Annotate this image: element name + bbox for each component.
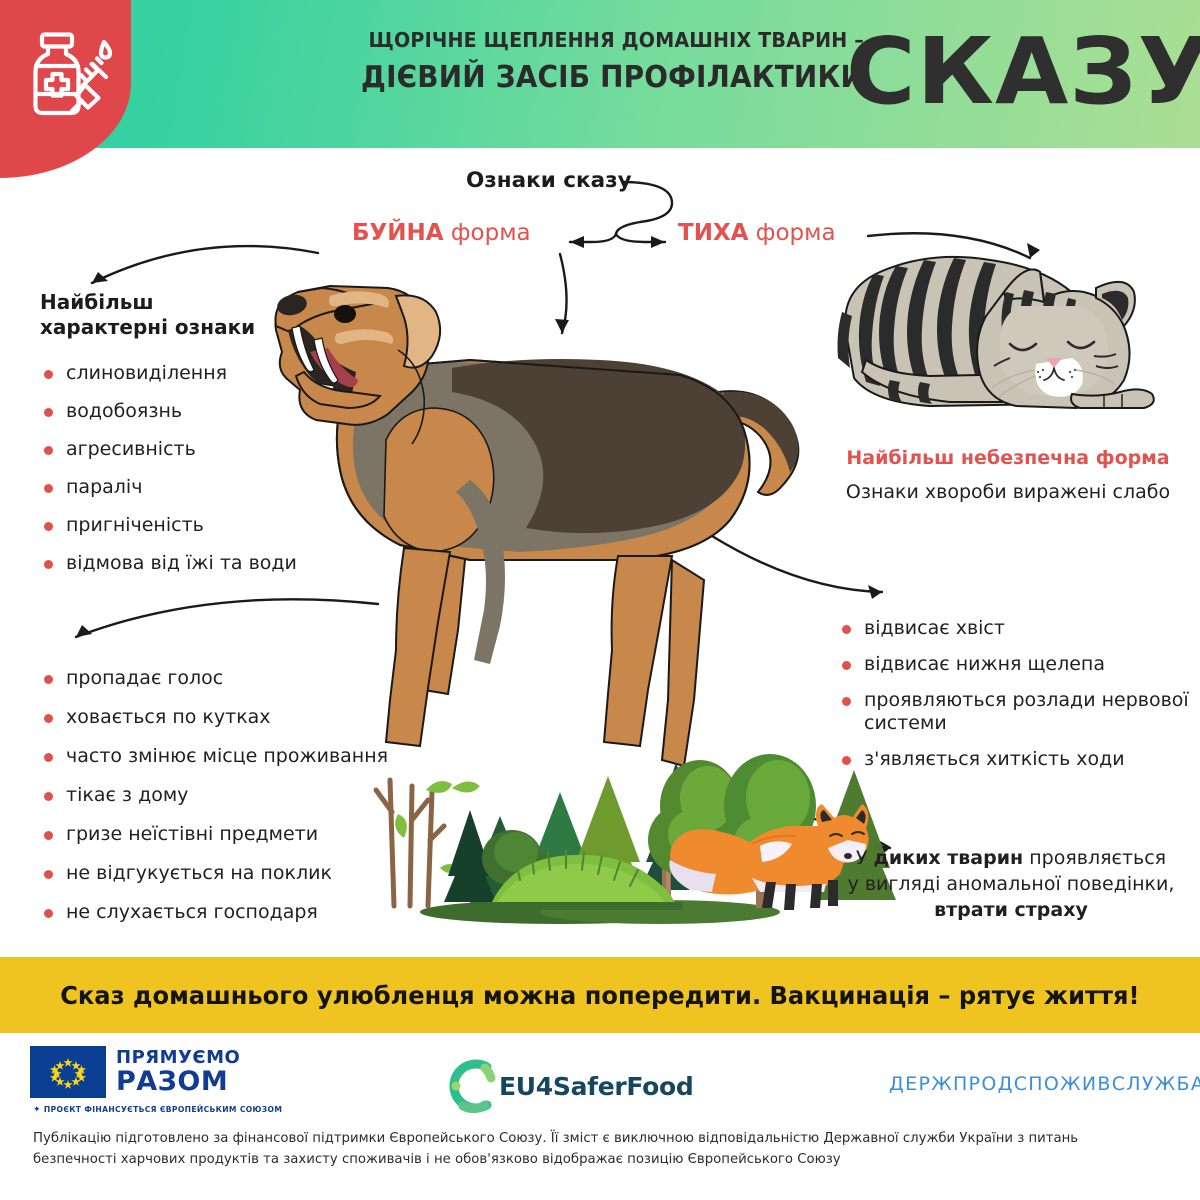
list-item: ховається по кутках <box>42 706 422 729</box>
list-item: тікає з дому <box>42 784 422 807</box>
list-item: з'являється хиткість ходи <box>840 748 1190 771</box>
branch-label-quiet: ТИХА форма <box>678 220 836 246</box>
sleeping-cat-illustration <box>838 257 1154 408</box>
list-item: проявляються розлади нервової системи <box>840 689 1190 735</box>
list-item: водобоязнь <box>42 400 382 423</box>
wild-note-pre: У <box>856 847 874 869</box>
list-item: відвисає хвіст <box>840 617 1190 640</box>
left-block-title-line-2: характерні ознаки <box>40 315 270 340</box>
footer-disclaimer: Публікацію підготовлено за фінансової пі… <box>33 1128 1162 1170</box>
eu-logo-word-2: РАЗОМ <box>116 1068 240 1095</box>
left-symptom-list: слиновиділення водобоязнь агресивність п… <box>42 362 382 590</box>
branch-label-quiet-rest: форма <box>748 220 835 246</box>
branch-label-violent-strong: БУЙНА <box>352 220 444 246</box>
list-item: пропадає голос <box>42 667 422 690</box>
right-symptom-list: відвисає хвіст відвисає нижня щелепа про… <box>840 617 1190 784</box>
list-item: параліч <box>42 476 382 499</box>
list-item: не відгукується на поклик <box>42 862 422 885</box>
list-item: відвисає нижня щелепа <box>840 653 1190 676</box>
green-swirl-circle-icon <box>443 1058 505 1114</box>
list-item: часто змінює місце проживання <box>42 745 422 768</box>
header-title-group: ЩОРІЧНЕ ЩЕПЛЕННЯ ДОМАШНІХ ТВАРИН – ДІЄВИ… <box>196 26 1176 136</box>
branch-label-violent: БУЙНА форма <box>352 220 531 246</box>
branch-label-quiet-strong: ТИХА <box>678 220 748 246</box>
eu-logo-word-1: ПРЯМУЄМО <box>116 1049 240 1067</box>
banner-text: Сказ домашнього улюбленця можна попереди… <box>60 981 1139 1010</box>
page-header: ЩОРІЧНЕ ЩЕПЛЕННЯ ДОМАШНІХ ТВАРИН – ДІЄВИ… <box>0 0 1200 148</box>
danger-form-subtitle: Ознаки хвороби виражені слабо <box>818 481 1198 503</box>
left-block-title: Найбільш характерні ознаки <box>40 290 270 340</box>
bottom-left-symptom-list: пропадає голос ховається по кутках часто… <box>42 667 422 940</box>
eu4saferfood-wordmark: EU4SaferFood <box>499 1072 694 1101</box>
header-highlight-word: СКАЗУ <box>846 24 1200 120</box>
call-to-action-banner: Сказ домашнього улюбленця можна попереди… <box>0 957 1200 1033</box>
derzh-wordmark: ДЕРЖПРОДСПОЖИВСЛУЖБА <box>889 1073 1200 1095</box>
danger-form-title: Найбільш небезпечна форма <box>838 447 1178 469</box>
vaccine-vial-syringe-icon <box>26 28 112 120</box>
eu-logo-caption: ✦ ПРОЄКТ ФІНАНСУЄТЬСЯ ЄВРОПЕЙСЬКИМ СОЮЗО… <box>33 1105 330 1115</box>
wild-note-bold-2: втрати страху <box>934 899 1088 921</box>
branch-label-violent-rest: форма <box>444 220 531 246</box>
header-line-2: ДІЄВИЙ ЗАСІБ ПРОФІЛАКТИКИ <box>243 56 864 100</box>
list-item: пригніченість <box>42 514 382 537</box>
left-block-title-line-1: Найбільш <box>40 290 270 315</box>
wild-note-post: проявляється <box>1023 847 1166 869</box>
list-item: не слухається господаря <box>42 901 422 924</box>
eu-flag-stars-icon <box>30 1046 106 1098</box>
logo-eu4saferfood: EU4SaferFood <box>443 1058 743 1114</box>
star-icon: ✦ <box>33 1105 41 1115</box>
eu-logo-caption-text: ПРОЄКТ ФІНАНСУЄТЬСЯ ЄВРОПЕЙСЬКИМ СОЮЗОМ <box>44 1105 282 1114</box>
forest-scene-illustration <box>376 754 896 924</box>
header-line-1: ЩОРІЧНЕ ЩЕПЛЕННЯ ДОМАШНІХ ТВАРИН – <box>243 26 864 54</box>
footer-logo-row: ПРЯМУЄМО РАЗОМ ✦ ПРОЄКТ ФІНАНСУЄТЬСЯ ЄВР… <box>0 1038 1200 1124</box>
list-item: слиновиділення <box>42 362 382 385</box>
wild-note-bold-1: диких тварин <box>874 847 1024 869</box>
diagram-root-label: Ознаки сказу <box>466 168 632 193</box>
list-item: відмова від їжі та води <box>42 552 382 575</box>
logo-derzhprodspozhyvsluzhba: ДЕРЖПРОДСПОЖИВСЛУЖБА <box>875 1053 1200 1119</box>
page-footer: ПРЯМУЄМО РАЗОМ ✦ ПРОЄКТ ФІНАНСУЄТЬСЯ ЄВР… <box>0 1033 1200 1200</box>
list-item: агресивність <box>42 438 382 461</box>
wild-animals-note: У диких тварин проявляється у вигляді ан… <box>828 845 1194 923</box>
wild-note-line-2: у вигляді аномальної поведінки, <box>848 873 1175 895</box>
list-item: гризе неїстівні предмети <box>42 823 422 846</box>
logo-eu-together: ПРЯМУЄМО РАЗОМ ✦ ПРОЄКТ ФІНАНСУЄТЬСЯ ЄВР… <box>30 1046 330 1126</box>
